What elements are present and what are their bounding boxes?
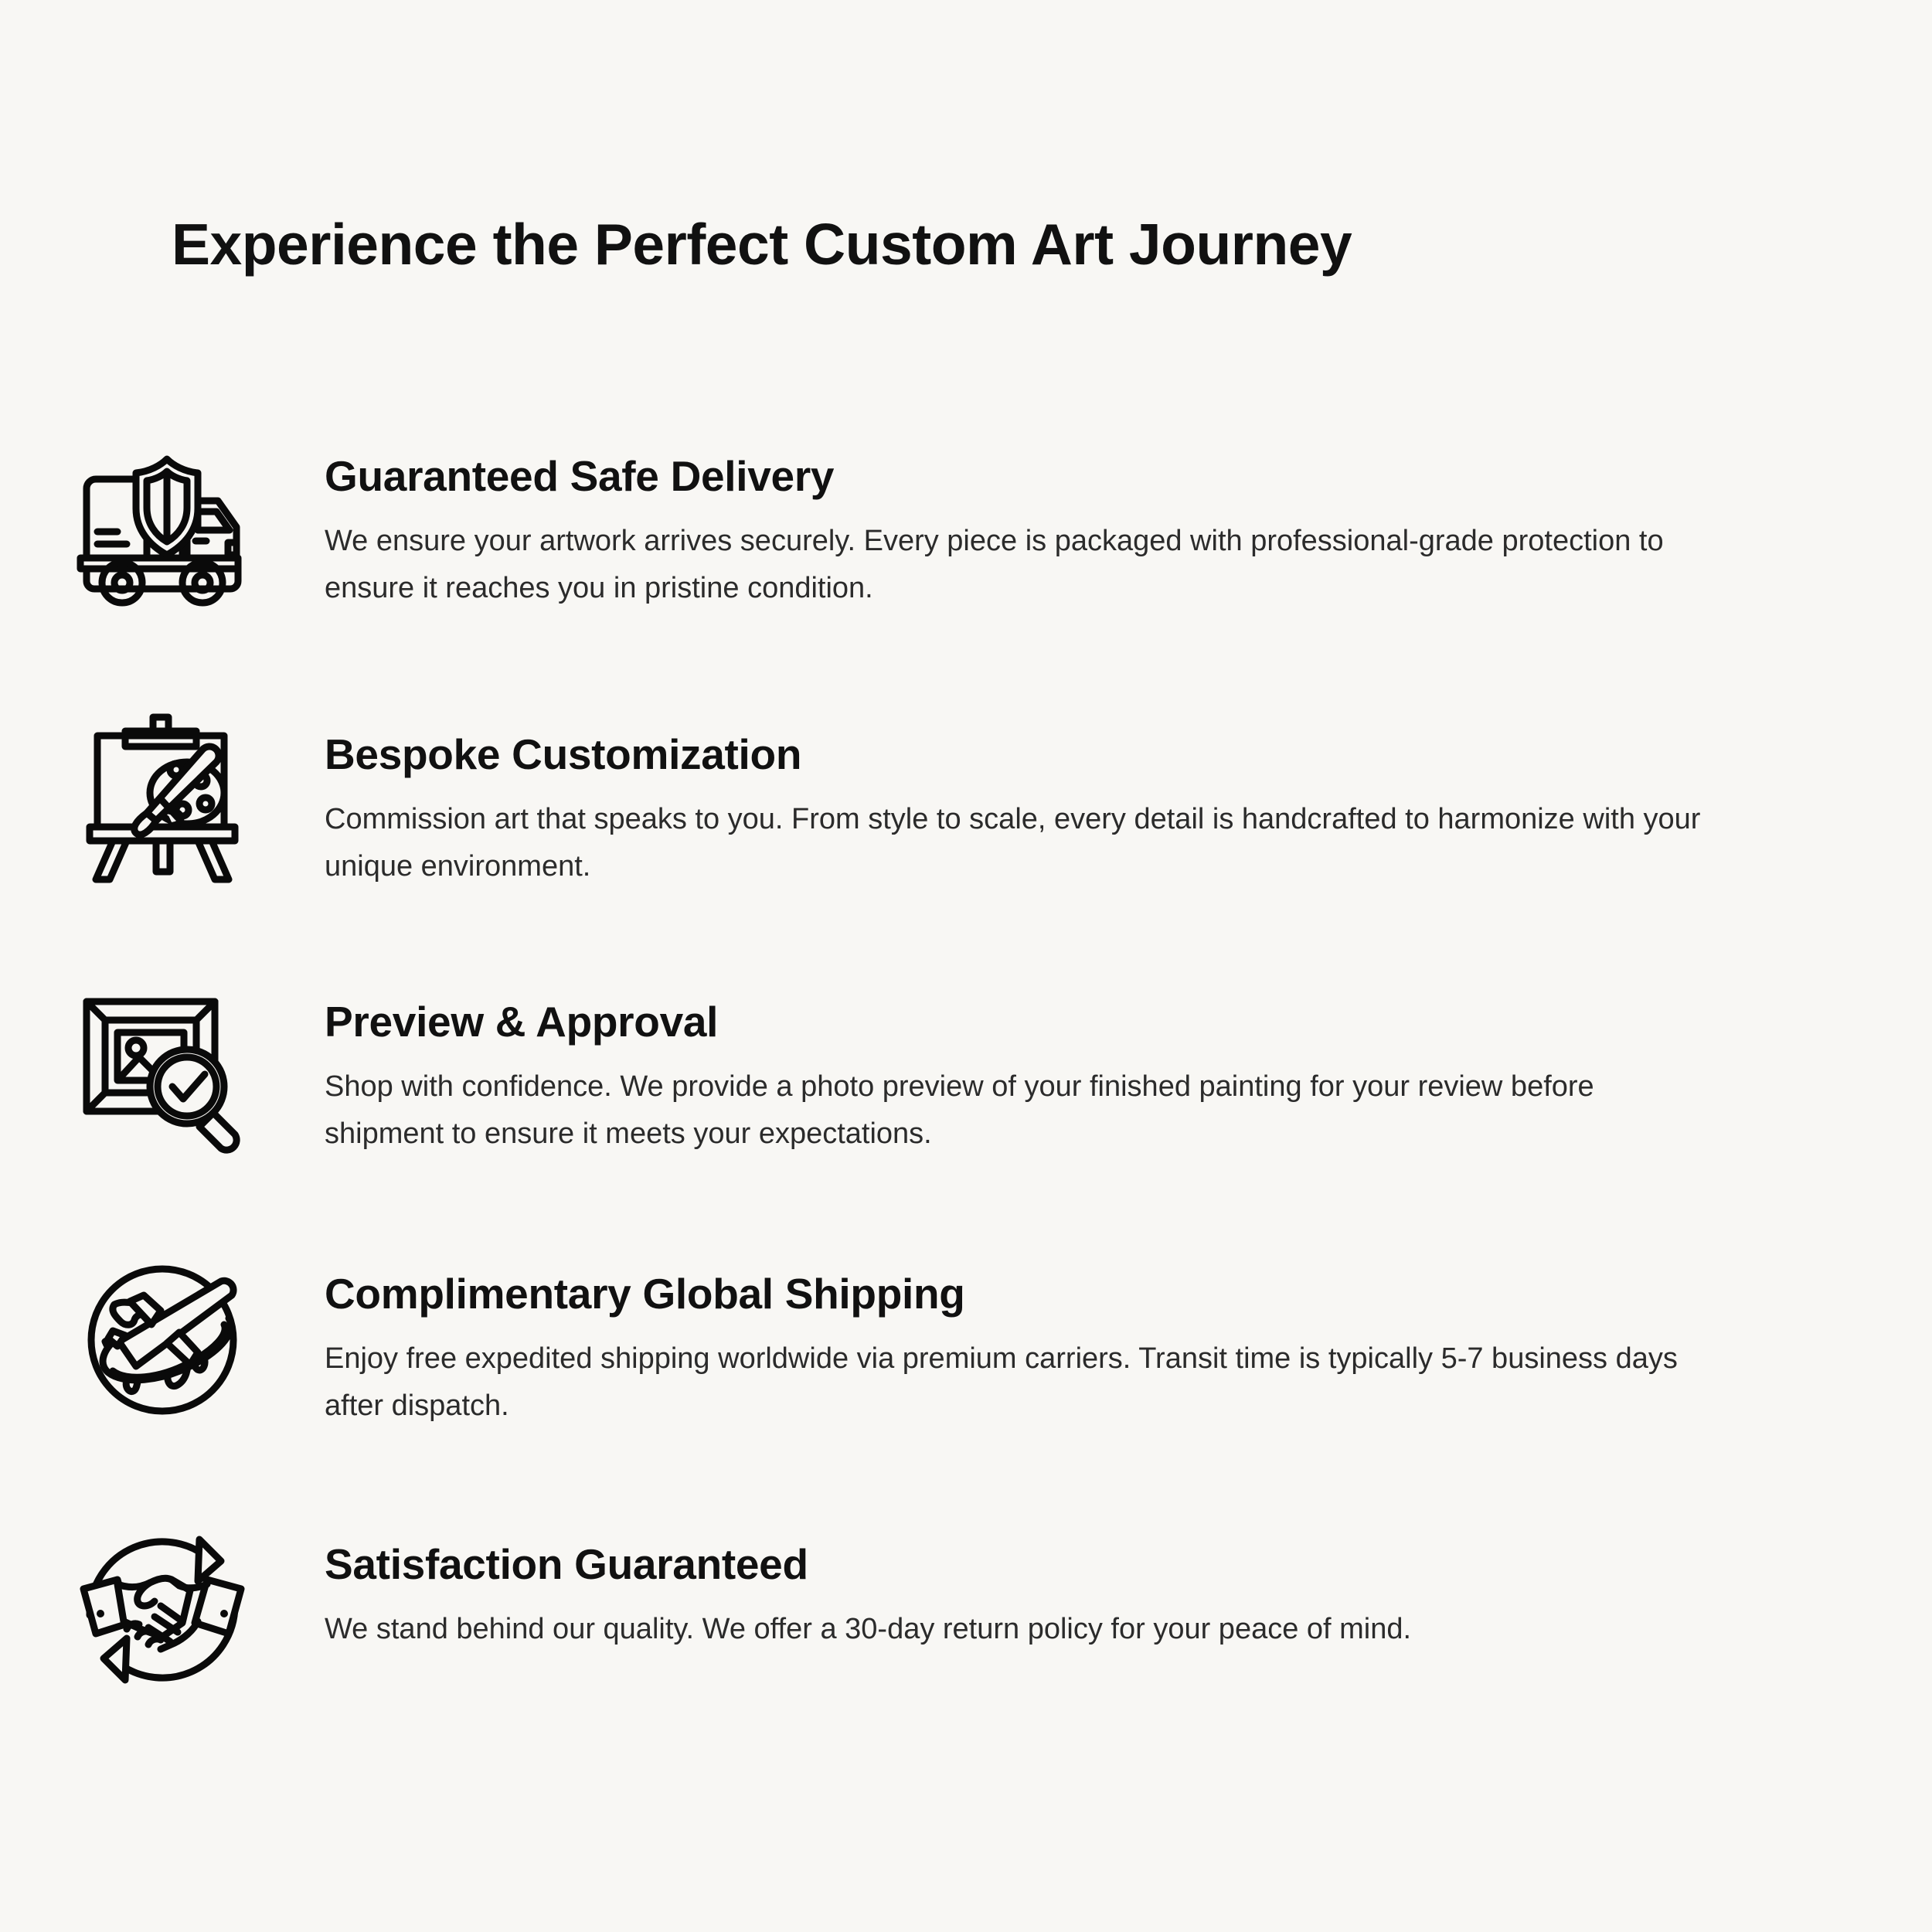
feature-text-cell: Guaranteed Safe Delivery We ensure your …	[325, 423, 1932, 613]
feature-text-cell: Satisfaction Guaranteed We stand behind …	[325, 1505, 1932, 1653]
shield-truck-icon	[70, 428, 255, 614]
feature-item: Complimentary Global Shipping Enjoy free…	[0, 1235, 1932, 1505]
feature-title: Complimentary Global Shipping	[325, 1270, 1847, 1318]
feature-text-cell: Bespoke Customization Commission art tha…	[325, 694, 1932, 891]
feature-text-cell: Preview & Approval Shop with confidence.…	[325, 964, 1932, 1158]
globe-airplane-icon	[70, 1244, 255, 1430]
feature-text-cell: Complimentary Global Shipping Enjoy free…	[325, 1235, 1932, 1430]
feature-description: Shop with confidence. We provide a photo…	[325, 1063, 1716, 1158]
feature-description: We stand behind our quality. We offer a …	[325, 1606, 1847, 1654]
feature-icon-cell	[0, 1235, 325, 1430]
feature-title: Satisfaction Guaranteed	[325, 1541, 1847, 1589]
feature-item: Bespoke Customization Commission art tha…	[0, 694, 1932, 964]
easel-palette-icon	[70, 705, 255, 890]
feature-description: Enjoy free expedited shipping worldwide …	[325, 1335, 1716, 1430]
feature-item: Guaranteed Safe Delivery We ensure your …	[0, 423, 1932, 694]
framed-picture-magnifier-check-icon	[70, 974, 255, 1159]
feature-list: Guaranteed Safe Delivery We ensure your …	[0, 423, 1932, 1776]
feature-icon-cell	[0, 694, 325, 890]
feature-title: Preview & Approval	[325, 998, 1847, 1046]
feature-title: Guaranteed Safe Delivery	[325, 453, 1847, 501]
feature-icon-cell	[0, 964, 325, 1159]
page-title: Experience the Perfect Custom Art Journe…	[172, 213, 1352, 276]
features-page: Experience the Perfect Custom Art Journe…	[0, 0, 1932, 1932]
feature-icon-cell	[0, 423, 325, 614]
feature-description: Commission art that speaks to you. From …	[325, 796, 1716, 891]
feature-description: We ensure your artwork arrives securely.…	[325, 518, 1716, 613]
feature-item: Preview & Approval Shop with confidence.…	[0, 964, 1932, 1235]
feature-item: Satisfaction Guaranteed We stand behind …	[0, 1505, 1932, 1776]
feature-icon-cell	[0, 1505, 325, 1699]
feature-title: Bespoke Customization	[325, 731, 1847, 779]
handshake-return-arrows-icon	[70, 1513, 255, 1699]
